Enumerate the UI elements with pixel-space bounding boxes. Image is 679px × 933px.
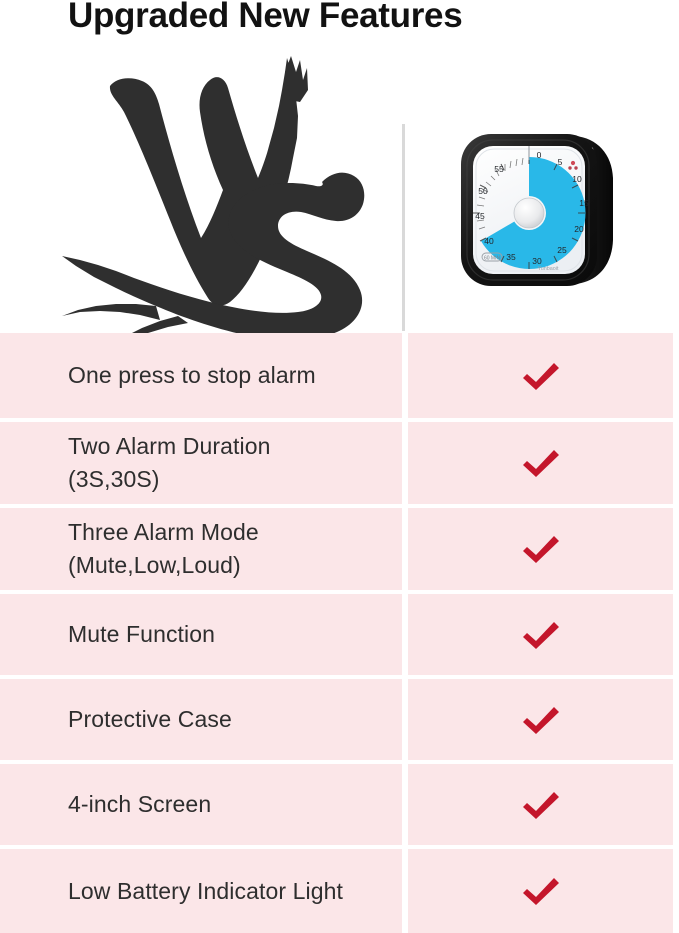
feature-label: Protective Case	[68, 703, 232, 736]
feature-label-cell: Protective Case	[0, 679, 402, 760]
product-image-timer: 0 5 10 15 20 25 30 35 40 45 50 55	[447, 120, 632, 300]
feature-label: Low Battery Indicator Light	[68, 875, 343, 908]
svg-text:40: 40	[484, 236, 494, 246]
row-edge-gap	[673, 849, 679, 933]
svg-text:30: 30	[532, 256, 542, 266]
svg-text:35: 35	[506, 252, 516, 262]
feature-comparison-table: One press to stop alarm Two Alarm Durati…	[0, 333, 679, 933]
checkmark-icon	[520, 874, 562, 908]
feature-label: Two Alarm Duration (3S,30S)	[68, 430, 271, 495]
feature-label: Three Alarm Mode (Mute,Low,Loud)	[68, 516, 259, 581]
feature-label-cell: Low Battery Indicator Light	[0, 849, 402, 933]
row-edge-gap	[673, 422, 679, 504]
checkmark-icon	[520, 618, 562, 652]
feature-check-cell	[408, 594, 673, 675]
checkmark-icon	[520, 532, 562, 566]
row-edge-gap	[673, 679, 679, 760]
row-edge-gap	[673, 333, 679, 418]
feature-check-cell	[408, 764, 673, 845]
feature-label: One press to stop alarm	[68, 359, 316, 392]
hero-section: 0 5 10 15 20 25 30 35 40 45 50 55	[0, 44, 679, 333]
table-row: Mute Function	[0, 594, 679, 675]
checkmark-icon	[520, 446, 562, 480]
table-row: Low Battery Indicator Light	[0, 849, 679, 933]
checkmark-icon	[520, 788, 562, 822]
vs-brush-graphic	[60, 54, 370, 354]
table-row: 4-inch Screen	[0, 764, 679, 845]
svg-text:15: 15	[579, 198, 589, 208]
checkmark-icon	[520, 703, 562, 737]
svg-text:45: 45	[475, 211, 485, 221]
feature-check-cell	[408, 422, 673, 504]
feature-label: Mute Function	[68, 618, 215, 651]
svg-text:10: 10	[572, 174, 582, 184]
feature-label: 4-inch Screen	[68, 788, 211, 821]
row-edge-gap	[673, 508, 679, 590]
svg-text:25: 25	[557, 245, 567, 255]
svg-text:55: 55	[494, 164, 504, 174]
table-row: One press to stop alarm	[0, 333, 679, 418]
svg-text:20: 20	[574, 224, 584, 234]
checkmark-icon	[520, 359, 562, 393]
svg-text:0: 0	[537, 150, 542, 160]
table-row: Protective Case	[0, 679, 679, 760]
svg-text:60 MIN: 60 MIN	[484, 255, 501, 261]
feature-label-cell: Mute Function	[0, 594, 402, 675]
feature-check-cell	[408, 333, 673, 418]
feature-label-cell: Two Alarm Duration (3S,30S)	[0, 422, 402, 504]
row-edge-gap	[673, 594, 679, 675]
table-row: Two Alarm Duration (3S,30S)	[0, 422, 679, 504]
feature-check-cell	[408, 508, 673, 590]
feature-label-cell: One press to stop alarm	[0, 333, 402, 418]
feature-check-cell	[408, 849, 673, 933]
page-title: Upgraded New Features	[68, 0, 462, 36]
brand-text: Yunbaoit	[538, 266, 559, 272]
feature-check-cell	[408, 679, 673, 760]
svg-text:50: 50	[478, 186, 488, 196]
svg-text:5: 5	[558, 157, 563, 167]
row-edge-gap	[673, 764, 679, 845]
feature-label-cell: 4-inch Screen	[0, 764, 402, 845]
vertical-divider	[402, 124, 405, 331]
table-row: Three Alarm Mode (Mute,Low,Loud)	[0, 508, 679, 590]
feature-label-cell: Three Alarm Mode (Mute,Low,Loud)	[0, 508, 402, 590]
